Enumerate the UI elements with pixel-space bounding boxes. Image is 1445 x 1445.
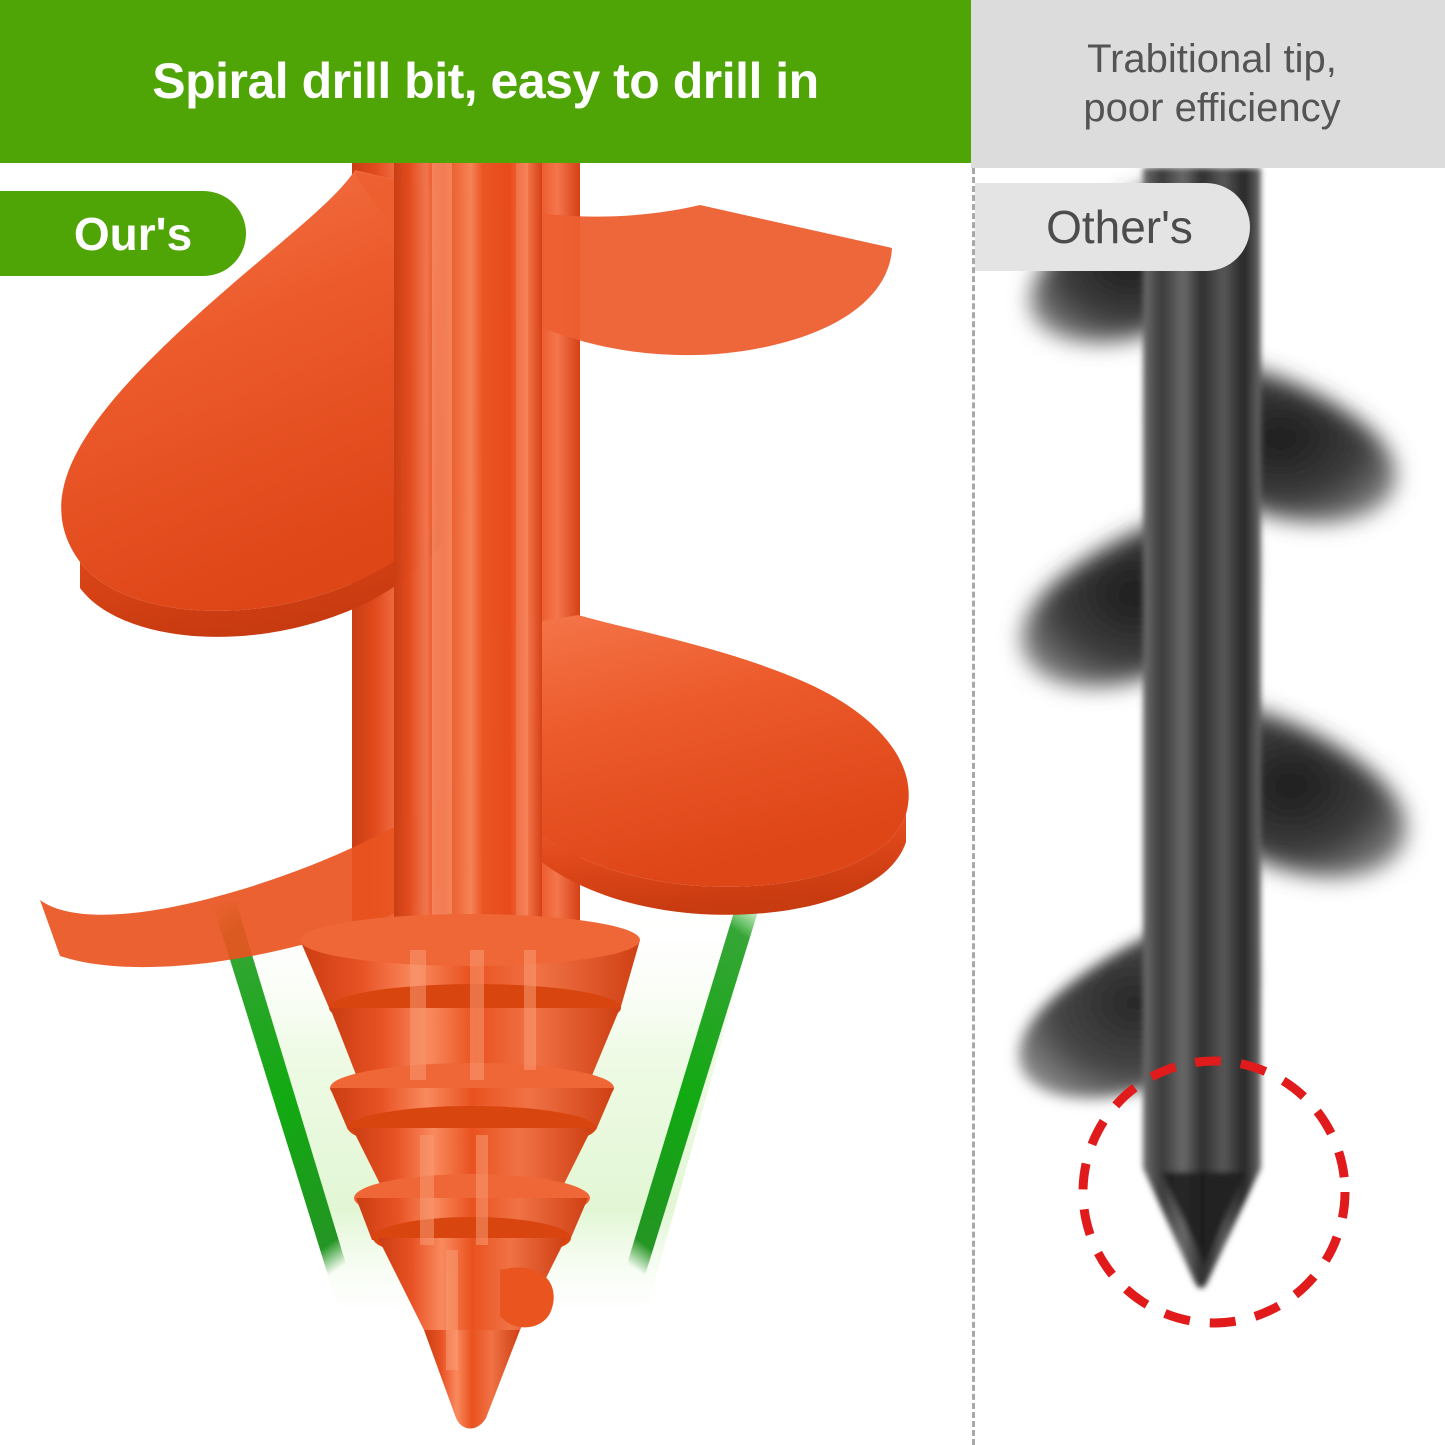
dark-auger-svg [975, 168, 1445, 1445]
badge-others: Other's [975, 183, 1250, 271]
header-banner-others: Trabitional tip, poor efficiency [971, 0, 1445, 168]
others-product-illustration [975, 168, 1445, 1445]
shaft-specular-highlight [432, 150, 452, 950]
ours-product-illustration [0, 150, 971, 1445]
header-title-others: Trabitional tip, poor efficiency [1075, 35, 1340, 133]
header-title-others-line1: Trabitional tip, [1083, 35, 1340, 84]
badge-others-label: Other's [1032, 200, 1193, 254]
dark-auger-shaft [1143, 168, 1261, 1288]
comparison-infographic: Spiral drill bit, easy to drill in Trabi… [0, 0, 1445, 1445]
badge-ours: Our's [0, 191, 246, 276]
header-title-ours: Spiral drill bit, easy to drill in [152, 54, 818, 109]
header-title-others-line2: poor efficiency [1083, 84, 1340, 133]
badge-ours-label: Our's [54, 207, 192, 261]
shaft-specular-2 [516, 150, 528, 950]
header-banner-ours: Spiral drill bit, easy to drill in [0, 0, 971, 163]
vertical-dashed-divider [972, 168, 975, 1445]
orange-auger-svg [0, 150, 971, 1445]
